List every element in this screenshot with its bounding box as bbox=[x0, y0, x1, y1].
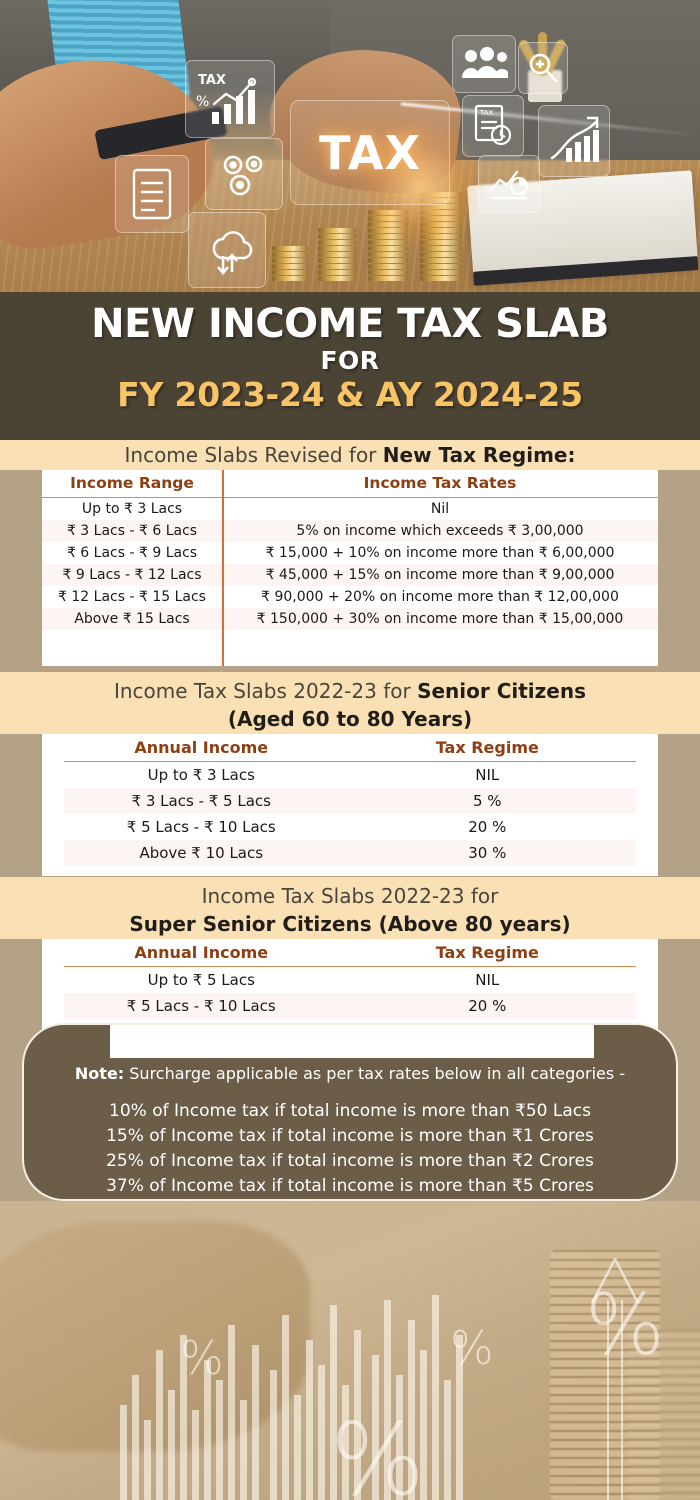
band1-strong: New Tax Regime: bbox=[383, 443, 576, 467]
svg-text:TAX: TAX bbox=[198, 73, 226, 88]
svg-text:%: % bbox=[196, 94, 209, 110]
table-row: ₹ 9 Lacs - ₹ 12 Lacs ₹ 45,000 + 15% on i… bbox=[42, 564, 658, 586]
cell-rate: ₹ 45,000 + 15% on income more than ₹ 9,0… bbox=[222, 564, 658, 586]
cell-regime: 5 % bbox=[339, 788, 636, 814]
section-band-new-regime: Income Slabs Revised for New Tax Regime: bbox=[0, 440, 700, 470]
cell-rate: Nil bbox=[222, 498, 658, 521]
page-title: NEW INCOME TAX SLAB bbox=[0, 301, 700, 347]
table-column-divider bbox=[222, 470, 224, 666]
percent-icon: % bbox=[450, 1321, 494, 1375]
note-line: 15% of Income tax if total income is mor… bbox=[24, 1124, 676, 1149]
cell-range: Above ₹ 15 Lacs bbox=[42, 608, 222, 630]
note-line: 37% of Income tax if total income is mor… bbox=[24, 1174, 676, 1199]
band2-strong: Senior Citizens bbox=[417, 679, 586, 703]
table-header-row: Income Range Income Tax Rates bbox=[42, 470, 658, 498]
title-fiscal-year: FY 2023-24 & AY 2024-25 bbox=[0, 375, 700, 415]
people-group-icon bbox=[452, 35, 516, 93]
note-line: 10% of Income tax if total income is mor… bbox=[24, 1099, 676, 1124]
band2-subtitle: (Aged 60 to 80 Years) bbox=[0, 705, 700, 733]
infographic-page: TAX % bbox=[0, 0, 700, 1500]
cell-regime: 20 % bbox=[339, 814, 636, 840]
cell-regime: NIL bbox=[339, 762, 636, 789]
band2-prefix: Income Tax Slabs 2022-23 for bbox=[114, 679, 417, 703]
cell-income: Above ₹ 10 Lacs bbox=[64, 840, 339, 866]
analytics-pie-icon bbox=[478, 155, 540, 213]
band3-prefix: Income Tax Slabs 2022-23 for bbox=[0, 882, 700, 910]
cell-income: ₹ 5 Lacs - ₹ 10 Lacs bbox=[64, 993, 339, 1019]
note-surcharge-list: 10% of Income tax if total income is mor… bbox=[24, 1099, 676, 1199]
band3-subtitle: Super Senior Citizens (Above 80 years) bbox=[0, 910, 700, 938]
magnifier-icon bbox=[518, 42, 568, 94]
table-new-tax-regime: Income Range Income Tax Rates Up to ₹ 3 … bbox=[42, 470, 658, 666]
section-band-senior-citizens: Income Tax Slabs 2022-23 for Senior Citi… bbox=[0, 672, 700, 734]
hero-tax-badge: TAX bbox=[290, 100, 450, 205]
cell-income: ₹ 5 Lacs - ₹ 10 Lacs bbox=[64, 814, 339, 840]
cell-rate: ₹ 15,000 + 10% on income more than ₹ 6,0… bbox=[222, 542, 658, 564]
percent-icon: % bbox=[330, 1401, 425, 1500]
title-banner: NEW INCOME TAX SLAB FOR FY 2023-24 & AY … bbox=[0, 292, 700, 440]
note-label: Note: bbox=[75, 1064, 124, 1083]
cell-rate: ₹ 90,000 + 20% on income more than ₹ 12,… bbox=[222, 586, 658, 608]
cell-regime: 30 % bbox=[339, 840, 636, 866]
note-content: Note: Surcharge applicable as per tax ra… bbox=[24, 1061, 676, 1199]
cell-range: ₹ 6 Lacs - ₹ 9 Lacs bbox=[42, 542, 222, 564]
growth-arrow-chart-icon bbox=[538, 105, 610, 177]
table-row: ₹ 6 Lacs - ₹ 9 Lacs ₹ 15,000 + 10% on in… bbox=[42, 542, 658, 564]
col-header-annual-income: Annual Income bbox=[64, 939, 339, 967]
cell-range: ₹ 9 Lacs - ₹ 12 Lacs bbox=[42, 564, 222, 586]
cell-rate: ₹ 150,000 + 30% on income more than ₹ 15… bbox=[222, 608, 658, 630]
coin-stack-icon bbox=[272, 246, 308, 282]
hero-tax-text: TAX bbox=[319, 126, 421, 180]
table-senior-citizens: Annual Income Tax Regime Up to ₹ 3 Lacs … bbox=[42, 734, 658, 876]
cell-income: Up to ₹ 3 Lacs bbox=[64, 762, 339, 789]
table-row: Up to ₹ 5 Lacs NIL bbox=[64, 967, 636, 994]
senior-citizens-table: Annual Income Tax Regime Up to ₹ 3 Lacs … bbox=[64, 734, 636, 866]
cell-income: Up to ₹ 5 Lacs bbox=[64, 967, 339, 994]
percent-icon: % bbox=[180, 1331, 224, 1385]
band1-prefix: Income Slabs Revised for bbox=[125, 443, 383, 467]
document-icon bbox=[115, 155, 189, 233]
col-header-tax-regime: Tax Regime bbox=[339, 734, 636, 762]
table-row: ₹ 5 Lacs - ₹ 10 Lacs 20 % bbox=[64, 814, 636, 840]
new-regime-table: Income Range Income Tax Rates Up to ₹ 3 … bbox=[42, 470, 658, 630]
cell-range: Up to ₹ 3 Lacs bbox=[42, 498, 222, 521]
title-for-label: FOR bbox=[0, 347, 700, 375]
cell-rate: 5% on income which exceeds ₹ 3,00,000 bbox=[222, 520, 658, 542]
footer-photo: % % % % bbox=[0, 1201, 700, 1500]
section-band-super-senior-citizens: Income Tax Slabs 2022-23 for Super Senio… bbox=[0, 877, 700, 939]
gears-icon bbox=[205, 138, 283, 210]
table-row: ₹ 5 Lacs - ₹ 10 Lacs 20 % bbox=[64, 993, 636, 1019]
coin-stack-icon bbox=[318, 228, 356, 282]
cell-regime: 20 % bbox=[339, 993, 636, 1019]
table-row: Up to ₹ 3 Lacs Nil bbox=[42, 498, 658, 521]
cloud-sync-icon bbox=[188, 212, 266, 288]
table-row: Up to ₹ 3 Lacs NIL bbox=[64, 762, 636, 789]
cell-range: ₹ 12 Lacs - ₹ 15 Lacs bbox=[42, 586, 222, 608]
table-row: ₹ 3 Lacs - ₹ 6 Lacs 5% on income which e… bbox=[42, 520, 658, 542]
invoice-clock-icon: TAX bbox=[462, 95, 524, 157]
note-line: 25% of Income tax if total income is mor… bbox=[24, 1149, 676, 1174]
table-row: ₹ 12 Lacs - ₹ 15 Lacs ₹ 90,000 + 20% on … bbox=[42, 586, 658, 608]
table-row: Above ₹ 15 Lacs ₹ 150,000 + 30% on incom… bbox=[42, 608, 658, 630]
hero-photo: TAX % bbox=[0, 0, 700, 292]
bar-chart-icon bbox=[120, 1280, 480, 1500]
cell-regime: NIL bbox=[339, 967, 636, 994]
cell-income: ₹ 3 Lacs - ₹ 5 Lacs bbox=[64, 788, 339, 814]
col-header-income-range: Income Range bbox=[42, 470, 222, 498]
col-header-tax-regime: Tax Regime bbox=[339, 939, 636, 967]
table-row: Above ₹ 10 Lacs 30 % bbox=[64, 840, 636, 866]
table-header-row: Annual Income Tax Regime bbox=[64, 939, 636, 967]
col-header-income-tax-rates: Income Tax Rates bbox=[222, 470, 658, 498]
table-row: ₹ 3 Lacs - ₹ 5 Lacs 5 % bbox=[64, 788, 636, 814]
note-card-table-overlap-mask bbox=[110, 1023, 594, 1058]
up-arrow-icon bbox=[590, 1255, 640, 1500]
table-header-row: Annual Income Tax Regime bbox=[64, 734, 636, 762]
tax-bar-chart-icon: TAX % bbox=[185, 60, 275, 138]
note-headline: Note: Surcharge applicable as per tax ra… bbox=[24, 1061, 676, 1087]
svg-text:TAX: TAX bbox=[479, 109, 494, 117]
col-header-annual-income: Annual Income bbox=[64, 734, 339, 762]
surcharge-note-card: Note: Surcharge applicable as per tax ra… bbox=[22, 1023, 678, 1201]
note-headline-text: Surcharge applicable as per tax rates be… bbox=[124, 1064, 625, 1083]
cell-range: ₹ 3 Lacs - ₹ 6 Lacs bbox=[42, 520, 222, 542]
